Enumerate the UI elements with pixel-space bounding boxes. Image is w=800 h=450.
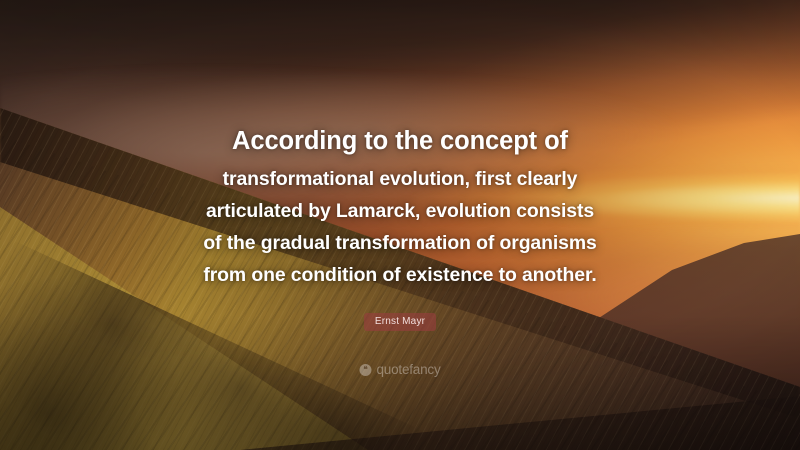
quote-text: According to the concept of transformati… xyxy=(185,120,615,291)
quotefancy-logo-icon: ❝ xyxy=(359,364,371,376)
watermark-brand: quotefancy xyxy=(376,362,440,377)
quote-line: articulated by Lamarck, evolution consis… xyxy=(185,195,615,227)
quote-card: According to the concept of transformati… xyxy=(0,0,800,450)
quote-line: of the gradual transformation of organis… xyxy=(185,227,615,259)
quote-line: transformational evolution, first clearl… xyxy=(185,163,615,195)
quote-line: from one condition of existence to anoth… xyxy=(185,259,615,291)
watermark[interactable]: ❝ quotefancy xyxy=(359,362,440,377)
quote-line: According to the concept of xyxy=(185,120,615,163)
author-badge[interactable]: Ernst Mayr xyxy=(364,313,436,331)
